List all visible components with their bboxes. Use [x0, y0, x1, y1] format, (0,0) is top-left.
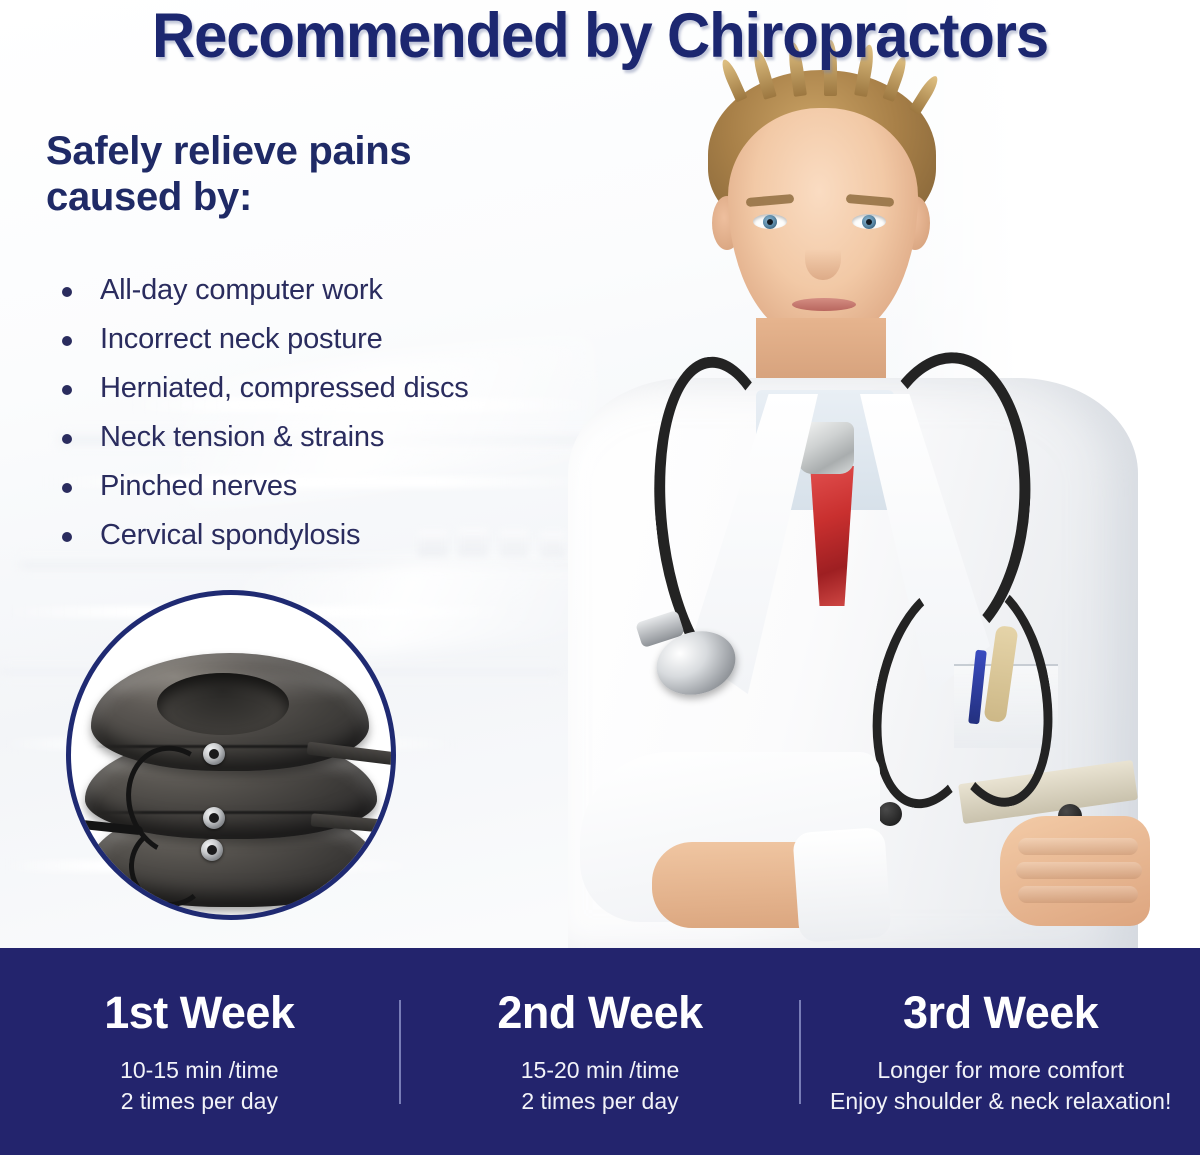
coat-cuff	[792, 827, 891, 943]
subheading: Safely relieve pains caused by:	[46, 128, 546, 220]
list-item-label: Incorrect neck posture	[100, 323, 383, 355]
list-item: Incorrect neck posture	[48, 315, 558, 364]
list-item-label: Neck tension & strains	[100, 421, 384, 453]
usage-schedule-banner: 1st Week 10-15 min /time 2 times per day…	[0, 948, 1200, 1155]
hair-spike	[909, 73, 941, 115]
week-title: 1st Week	[8, 987, 391, 1039]
bullet-dot	[62, 483, 72, 493]
schedule-week-1: 1st Week 10-15 min /time 2 times per day	[0, 987, 399, 1117]
list-item: Neck tension & strains	[48, 413, 558, 462]
neck-traction-device-photo	[71, 595, 391, 915]
collar-neck-opening	[157, 673, 289, 735]
eye	[852, 214, 886, 229]
week-line-2: 2 times per day	[409, 1086, 792, 1117]
list-item-label: Herniated, compressed discs	[100, 372, 469, 404]
product-image-circle	[66, 590, 396, 920]
list-item: All-day computer work	[48, 266, 558, 315]
schedule-week-3: 3rd Week Longer for more comfort Enjoy s…	[801, 987, 1200, 1117]
schedule-week-2: 2nd Week 15-20 min /time 2 times per day	[401, 987, 800, 1117]
week-title: 2nd Week	[409, 987, 792, 1039]
week-line-1: Longer for more comfort	[809, 1055, 1192, 1086]
list-item-label: All-day computer work	[100, 274, 383, 306]
pain-causes-list: All-day computer work Incorrect neck pos…	[48, 266, 558, 560]
list-item-label: Cervical spondylosis	[100, 519, 360, 551]
metal-grommet	[203, 743, 225, 765]
week-line-1: 15-20 min /time	[409, 1055, 792, 1086]
stethoscope-earpiece	[878, 802, 902, 826]
bullet-dot	[62, 336, 72, 346]
nose	[805, 236, 841, 280]
bullet-dot	[62, 287, 72, 297]
week-title: 3rd Week	[809, 987, 1192, 1039]
list-item: Cervical spondylosis	[48, 511, 558, 560]
banner-divider	[399, 1000, 401, 1104]
hand	[1000, 816, 1150, 926]
week-line-2: 2 times per day	[8, 1086, 391, 1117]
week-line-1: 10-15 min /time	[8, 1055, 391, 1086]
banner-divider	[799, 1000, 801, 1104]
week-line-2: Enjoy shoulder & neck relaxation!	[809, 1086, 1192, 1117]
bullet-dot	[62, 532, 72, 542]
page-title: Recommended by Chiropractors	[30, 2, 1170, 70]
product-marketing-poster: Recommended by Chiropractors Safely reli…	[0, 0, 1200, 1155]
doctor-photo	[560, 60, 1150, 960]
bullet-dot	[62, 434, 72, 444]
eye	[753, 214, 787, 229]
list-item: Herniated, compressed discs	[48, 364, 558, 413]
mouth	[792, 298, 856, 311]
list-item: Pinched nerves	[48, 462, 558, 511]
bullet-dot	[62, 385, 72, 395]
list-item-label: Pinched nerves	[100, 470, 297, 502]
